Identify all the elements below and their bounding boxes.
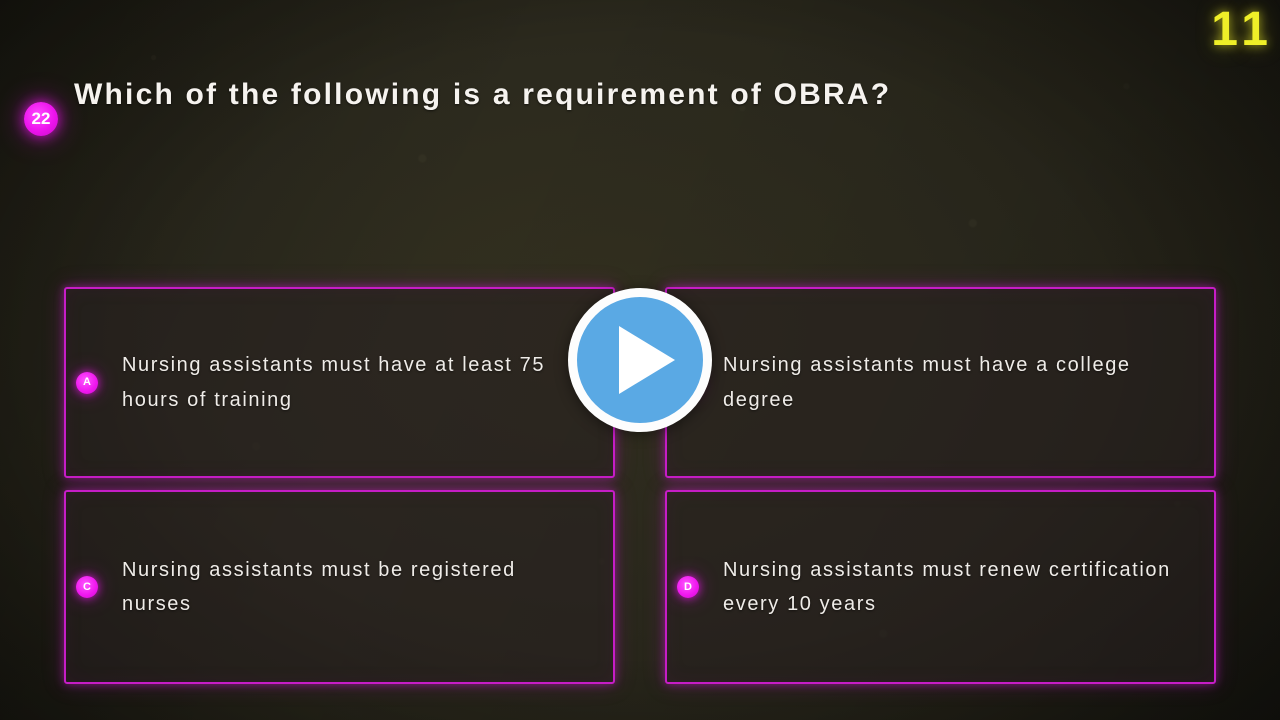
- answer-text-b: Nursing assistants must have a college d…: [723, 348, 1193, 417]
- question-number-badge: 22: [24, 102, 58, 136]
- answer-letter-c: C: [76, 576, 98, 598]
- answer-option-c[interactable]: C Nursing assistants must be registered …: [64, 490, 615, 684]
- answer-option-d[interactable]: D Nursing assistants must renew certific…: [665, 490, 1216, 684]
- answer-text-d: Nursing assistants must renew certificat…: [723, 553, 1193, 622]
- countdown-timer: 11: [1211, 6, 1274, 54]
- answer-letter-a: A: [76, 372, 98, 394]
- play-button[interactable]: [568, 288, 712, 432]
- answer-option-a[interactable]: A Nursing assistants must have at least …: [64, 287, 615, 478]
- answer-text-c: Nursing assistants must be registered nu…: [122, 553, 562, 622]
- question-row: 22 Which of the following is a requireme…: [24, 76, 1204, 136]
- question-text: Which of the following is a requirement …: [74, 76, 891, 114]
- answer-option-b[interactable]: B Nursing assistants must have a college…: [665, 287, 1216, 478]
- play-triangle-icon: [619, 326, 675, 394]
- video-frame: 11 22 Which of the following is a requir…: [0, 0, 1280, 720]
- answer-text-a: Nursing assistants must have at least 75…: [122, 348, 562, 417]
- answer-letter-d: D: [677, 576, 699, 598]
